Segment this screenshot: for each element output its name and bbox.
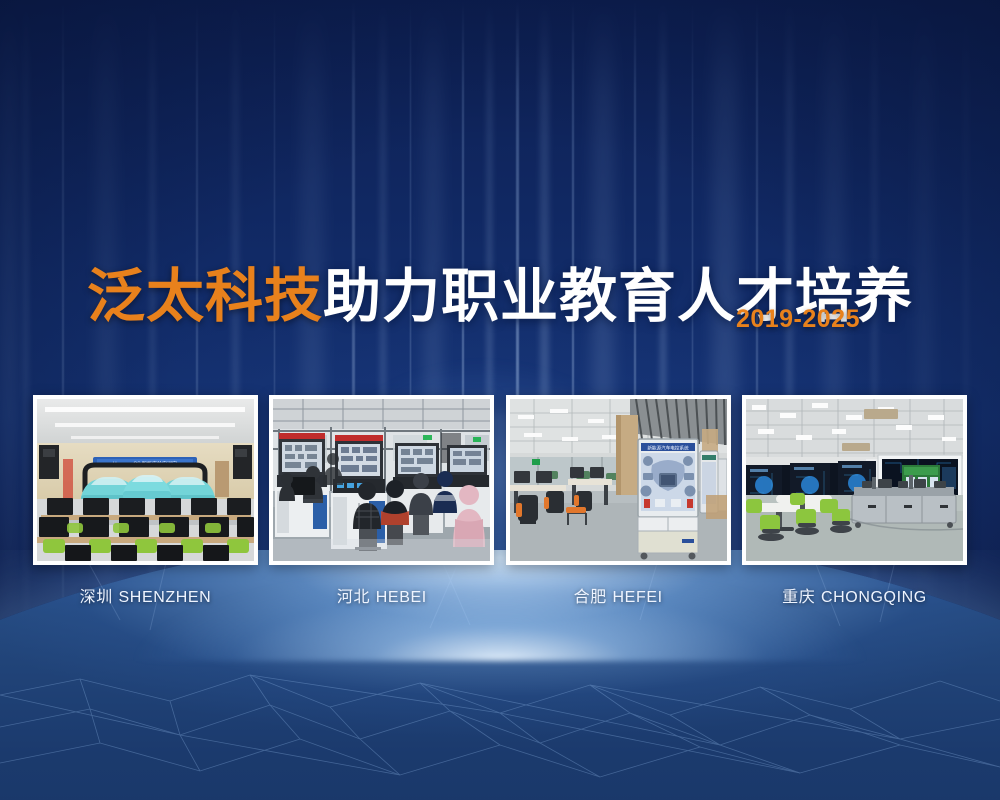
caption-shenzhen: 深圳 SHENZHEN — [33, 583, 258, 607]
caption-row: 深圳 SHENZHEN 河北 HEBEI 合肥 HEFEI 重庆 CHONGQI… — [33, 583, 967, 607]
poster-canvas: 泛太科技助力职业教育人才培养 2019-2025 — [0, 0, 1000, 800]
network-mesh — [0, 635, 1000, 800]
photo-gallery: HarmonyOS 智能座舱实训室 — [33, 395, 967, 565]
caption-chongqing: 重庆 CHONGQING — [742, 583, 967, 607]
photo-shenzhen-smart-vehicle-classroom: HarmonyOS 智能座舱实训室 — [37, 399, 254, 561]
photo-card-hebei[interactable] — [269, 395, 494, 565]
caption-hebei-en: HEBEI — [376, 589, 427, 606]
photo-card-chongqing[interactable] — [742, 395, 967, 565]
caption-hefei-cn: 合肥 — [574, 587, 607, 606]
photo-chongqing-smart-lab — [746, 399, 963, 561]
caption-hefei-en: HEFEI — [613, 589, 663, 606]
caption-shenzhen-en: SHENZHEN — [119, 589, 212, 606]
caption-chongqing-cn: 重庆 — [782, 587, 815, 606]
photo-card-shenzhen[interactable]: HarmonyOS 智能座舱实训室 — [33, 395, 258, 565]
subtitle-year-range: 2019-2025 — [0, 305, 860, 334]
caption-chongqing-en: CHONGQING — [821, 589, 927, 606]
caption-hebei-cn: 河北 — [337, 587, 370, 606]
svg-text:新能源汽车电控系统: 新能源汽车电控系统 — [647, 445, 689, 452]
caption-hefei: 合肥 HEFEI — [506, 583, 731, 607]
caption-hebei: 河北 HEBEI — [269, 583, 494, 607]
photo-card-hefei[interactable]: 新能源汽车电控系统 — [506, 395, 731, 565]
caption-shenzhen-cn: 深圳 — [80, 587, 113, 606]
photo-hefei-automotive-lab: 新能源汽车电控系统 — [510, 399, 727, 561]
photo-hebei-training-workstations — [273, 399, 490, 561]
